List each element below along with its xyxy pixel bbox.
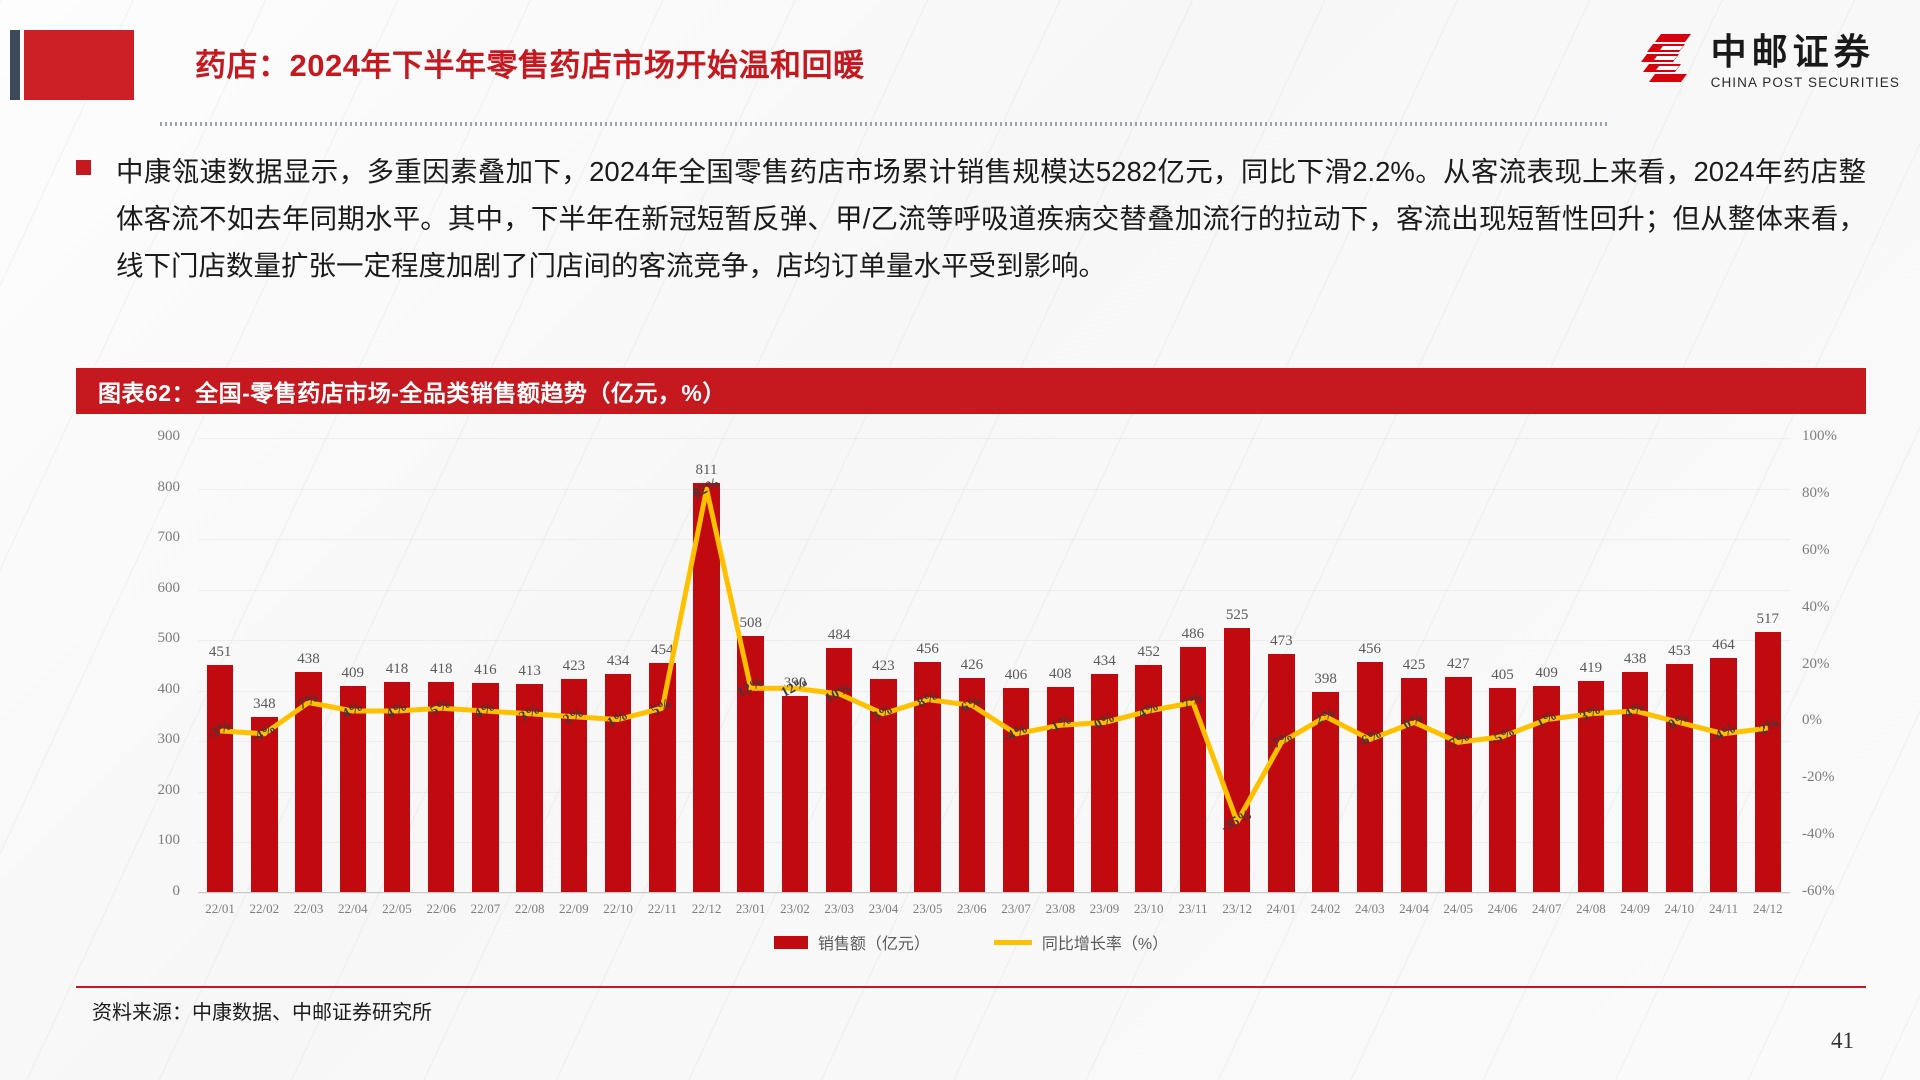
header-accent-bar-red	[24, 30, 134, 100]
x-axis-tick: 22/01	[198, 901, 242, 917]
legend-swatch-bar-icon	[774, 936, 808, 949]
china-post-logo-icon	[1639, 28, 1701, 90]
x-axis-tick: 22/03	[286, 901, 330, 917]
x-axis-tick: 24/08	[1569, 901, 1613, 917]
x-axis-tick: 24/09	[1613, 901, 1657, 917]
header-dotted-divider	[160, 122, 1610, 126]
x-axis-tick: 22/02	[242, 901, 286, 917]
y-axis-left-tick: 600	[128, 580, 180, 597]
x-axis-tick: 23/12	[1215, 901, 1259, 917]
x-axis-tick: 22/04	[331, 901, 375, 917]
x-axis-tick: 22/10	[596, 901, 640, 917]
x-axis-tick: 22/07	[463, 901, 507, 917]
y-axis-left-tick: 300	[128, 731, 180, 748]
logo-text-cn: 中邮证券	[1711, 34, 1900, 70]
x-axis-tick: 23/09	[1082, 901, 1126, 917]
x-axis-tick: 23/11	[1171, 901, 1215, 917]
y-axis-right-tick: 80%	[1802, 485, 1862, 502]
y-axis-left-tick: 200	[128, 782, 180, 799]
x-axis-tick: 22/11	[640, 901, 684, 917]
slide-root: 药店：2024年下半年零售药店市场开始温和回暖	[0, 0, 1920, 1080]
x-axis-tick: 23/05	[906, 901, 950, 917]
x-axis-tick: 24/05	[1436, 901, 1480, 917]
x-axis-tick: 22/05	[375, 901, 419, 917]
y-axis-right-tick: -20%	[1802, 769, 1862, 786]
x-axis-tick: 23/02	[773, 901, 817, 917]
plot-area: 4513484384094184184164134234344548115083…	[198, 438, 1790, 893]
x-axis-tick: 24/04	[1392, 901, 1436, 917]
source-note: 资料来源：中康数据、中邮证券研究所	[92, 996, 432, 1025]
gridline	[198, 893, 1790, 894]
legend-swatch-line-icon	[994, 940, 1032, 945]
x-axis-line	[198, 892, 1790, 893]
chart-title: 图表62：全国-零售药店市场-全品类销售额趋势（亿元，%）	[98, 374, 726, 408]
x-axis-tick: 23/07	[994, 901, 1038, 917]
y-axis-left-tick: 500	[128, 630, 180, 647]
x-axis-tick: 22/08	[508, 901, 552, 917]
page-title: 药店：2024年下半年零售药店市场开始温和回暖	[195, 40, 864, 85]
x-axis-tick: 24/02	[1303, 901, 1347, 917]
legend-label-growth: 同比增长率（%）	[1042, 930, 1168, 954]
bullet-square-icon	[76, 160, 91, 175]
x-axis-tick: 23/10	[1127, 901, 1171, 917]
y-axis-right-tick: 20%	[1802, 656, 1862, 673]
y-axis-right-tick: 100%	[1802, 428, 1862, 445]
footer-divider	[76, 986, 1866, 988]
x-axis-tick: 24/07	[1525, 901, 1569, 917]
legend-item-growth[interactable]: 同比增长率（%）	[994, 930, 1168, 954]
x-axis-tick: 24/11	[1701, 901, 1745, 917]
x-axis-tick: 24/10	[1657, 901, 1701, 917]
x-axis-tick: 24/12	[1746, 901, 1790, 917]
page-number: 41	[1831, 1028, 1854, 1054]
x-axis-labels: 22/0122/0222/0322/0422/0522/0622/0722/08…	[198, 901, 1790, 917]
body-paragraph: 中康瓴速数据显示，多重因素叠加下，2024年全国零售药店市场累计销售规模达528…	[116, 148, 1866, 289]
y-axis-left-tick: 0	[128, 883, 180, 900]
chart-legend: 销售额（亿元） 同比增长率（%）	[76, 930, 1866, 954]
logo-text-en: CHINA POST SECURITIES	[1711, 75, 1900, 90]
x-axis-tick: 22/06	[419, 901, 463, 917]
y-axis-left-tick: 700	[128, 529, 180, 546]
company-logo: 中邮证券 CHINA POST SECURITIES	[1639, 28, 1900, 90]
body-bullet: 中康瓴速数据显示，多重因素叠加下，2024年全国零售药店市场累计销售规模达528…	[76, 148, 1866, 289]
y-axis-right-tick: 40%	[1802, 599, 1862, 616]
growth-line-path	[220, 489, 1768, 822]
y-axis-right-tick: 0%	[1802, 712, 1862, 729]
y-axis-right-tick: -40%	[1802, 826, 1862, 843]
x-axis-tick: 23/08	[1038, 901, 1082, 917]
y-axis-left-tick: 900	[128, 428, 180, 445]
y-axis-left-tick: 100	[128, 832, 180, 849]
x-axis-tick: 22/09	[552, 901, 596, 917]
legend-label-sales: 销售额（亿元）	[818, 930, 930, 954]
x-axis-tick: 24/06	[1480, 901, 1524, 917]
x-axis-tick: 24/01	[1259, 901, 1303, 917]
legend-item-sales[interactable]: 销售额（亿元）	[774, 930, 930, 954]
x-axis-tick: 23/06	[950, 901, 994, 917]
slide-header: 药店：2024年下半年零售药店市场开始温和回暖	[0, 0, 1920, 130]
x-axis-tick: 23/01	[729, 901, 773, 917]
chart-panel: 9008007006005004003002001000 100%80%60%4…	[76, 414, 1866, 970]
header-accent-bar-dark	[10, 30, 20, 100]
y-axis-right-tick: 60%	[1802, 542, 1862, 559]
y-axis-left-tick: 800	[128, 479, 180, 496]
chart-title-bar: 图表62：全国-零售药店市场-全品类销售额趋势（亿元，%）	[76, 368, 1866, 414]
y-axis-left-tick: 400	[128, 681, 180, 698]
x-axis-tick: 23/04	[861, 901, 905, 917]
x-axis-tick: 24/03	[1348, 901, 1392, 917]
growth-line-series	[198, 438, 1790, 893]
y-axis-right-tick: -60%	[1802, 883, 1862, 900]
x-axis-tick: 23/03	[817, 901, 861, 917]
x-axis-tick: 22/12	[684, 901, 728, 917]
